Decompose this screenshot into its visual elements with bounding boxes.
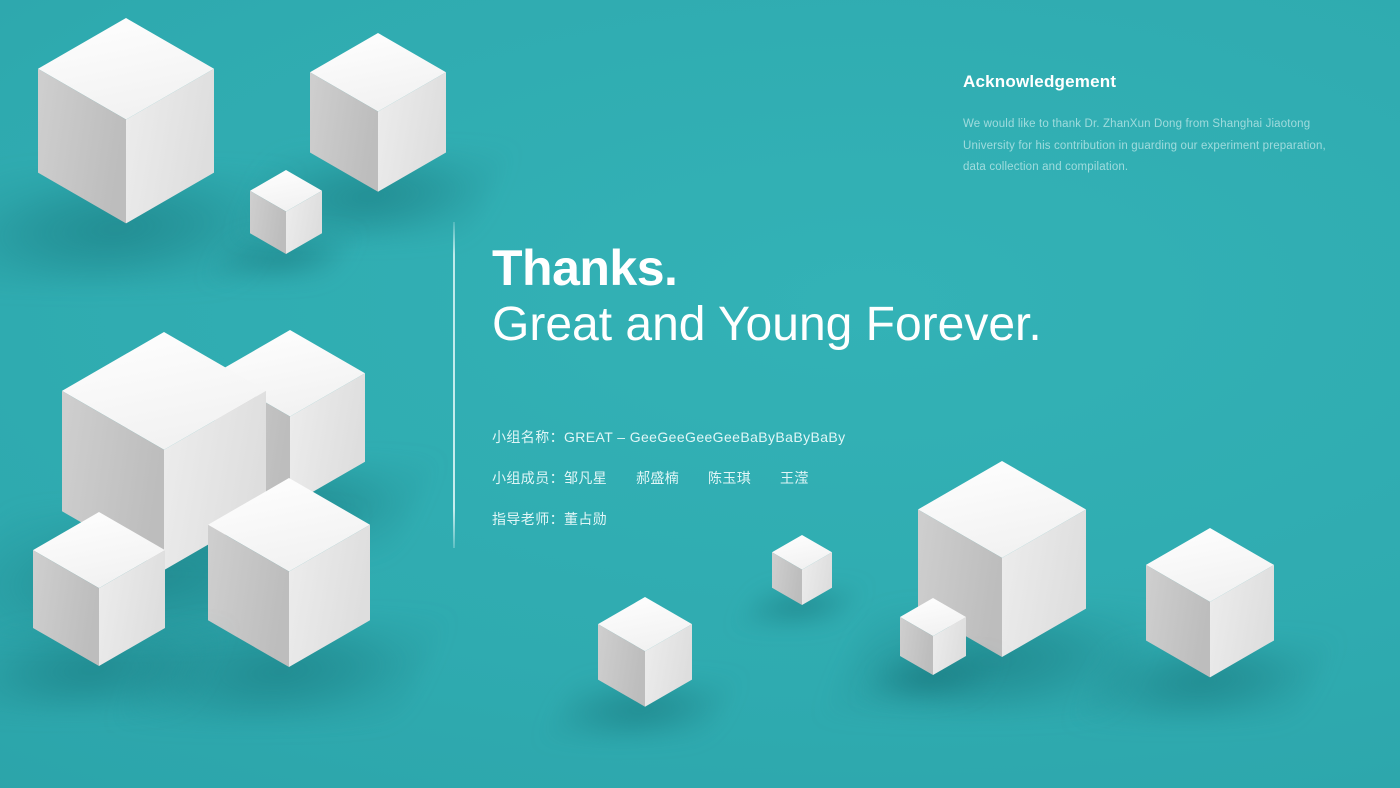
cube-center-small bbox=[772, 535, 832, 605]
cube-cluster-front bbox=[208, 478, 370, 667]
credit-team-members: 小组成员：邹凡星 郝盛楠 陈玉琪 王滢 bbox=[492, 469, 846, 488]
cube-right-tiny bbox=[900, 598, 966, 675]
acknowledgement-line: University for his contribution in guard… bbox=[963, 136, 1353, 158]
presentation-slide: Acknowledgement We would like to thank D… bbox=[0, 0, 1400, 788]
cube-top-small bbox=[250, 170, 322, 254]
cube-far-right bbox=[1146, 528, 1274, 677]
credit-team-name: 小组名称：GREAT – GeeGeeGeeGeeBaByBaByBaBy bbox=[492, 428, 846, 447]
title-primary: Thanks. bbox=[492, 240, 1042, 296]
title-block: Thanks. Great and Young Forever. bbox=[492, 240, 1042, 354]
acknowledgement-line: data collection and compilation. bbox=[963, 157, 1353, 179]
acknowledgement-title: Acknowledgement bbox=[963, 72, 1353, 92]
title-secondary: Great and Young Forever. bbox=[492, 296, 1042, 354]
acknowledgement-line: We would like to thank Dr. ZhanXun Dong … bbox=[963, 114, 1353, 136]
cube-center-bottom bbox=[598, 597, 692, 707]
cube-top-left-large bbox=[38, 18, 214, 223]
cube-top-mid-large bbox=[310, 33, 446, 192]
acknowledgement-block: Acknowledgement We would like to thank D… bbox=[963, 72, 1353, 179]
vertical-divider bbox=[453, 222, 455, 548]
acknowledgement-body: We would like to thank Dr. ZhanXun Dong … bbox=[963, 114, 1353, 179]
credit-advisor: 指导老师：董占勋 bbox=[492, 510, 846, 529]
credits-block: 小组名称：GREAT – GeeGeeGeeGeeBaByBaByBaBy 小组… bbox=[492, 428, 846, 529]
cube-cluster-small bbox=[33, 512, 165, 666]
